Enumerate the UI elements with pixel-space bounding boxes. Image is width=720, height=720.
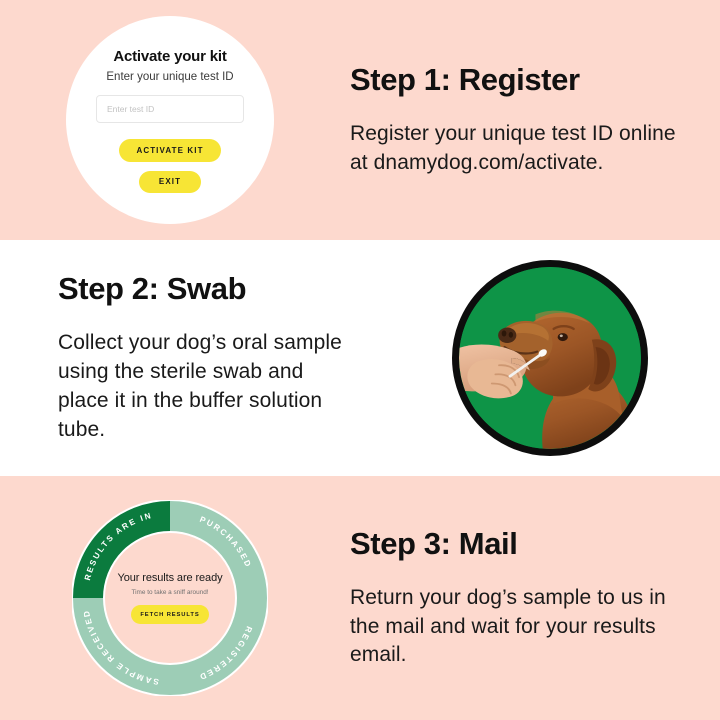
step-1-body: Register your unique test ID online at d… [350,120,690,178]
step-3-visual: PURCHASED REGISTERED SAMPLE RECEIVED RES… [0,476,340,720]
fetch-results-button[interactable]: FETCH RESULTS [131,605,209,624]
dog-swab-photo [452,260,648,456]
test-id-input[interactable] [96,95,244,123]
progress-ring: PURCHASED REGISTERED SAMPLE RECEIVED RES… [72,500,268,696]
results-card-title: Your results are ready [117,572,222,584]
step-3-body: Return your dog’s sample to us in the ma… [350,584,690,671]
step-2-text: Step 2: Swab Collect your dog’s oral sam… [0,240,380,476]
how-it-works-infographic: Activate your kit Enter your unique test… [0,0,720,720]
step-1-text: Step 1: Register Register your unique te… [340,0,720,240]
step-2-section: Step 2: Swab Collect your dog’s oral sam… [0,240,720,476]
step-1-visual: Activate your kit Enter your unique test… [0,0,340,240]
step-3-title: Step 3: Mail [350,526,690,562]
step-2-visual [380,240,720,476]
step-1-title: Step 1: Register [350,62,690,98]
step-3-section: PURCHASED REGISTERED SAMPLE RECEIVED RES… [0,476,720,720]
step-1-section: Activate your kit Enter your unique test… [0,0,720,240]
dog-swab-illustration [459,267,641,449]
activate-card-title: Activate your kit [113,48,226,65]
activate-card-subtitle: Enter your unique test ID [106,71,233,83]
exit-button[interactable]: EXIT [139,171,201,193]
activate-kit-button[interactable]: ACTIVATE KIT [119,139,221,162]
step-2-title: Step 2: Swab [58,271,360,307]
activate-kit-card: Activate your kit Enter your unique test… [66,16,274,224]
step-2-body: Collect your dog’s oral sample using the… [58,329,360,445]
results-card: Your results are ready Time to take a sn… [108,572,232,624]
results-card-subtitle: Time to take a sniff around! [131,589,208,596]
step-3-text: Step 3: Mail Return your dog’s sample to… [340,476,720,720]
